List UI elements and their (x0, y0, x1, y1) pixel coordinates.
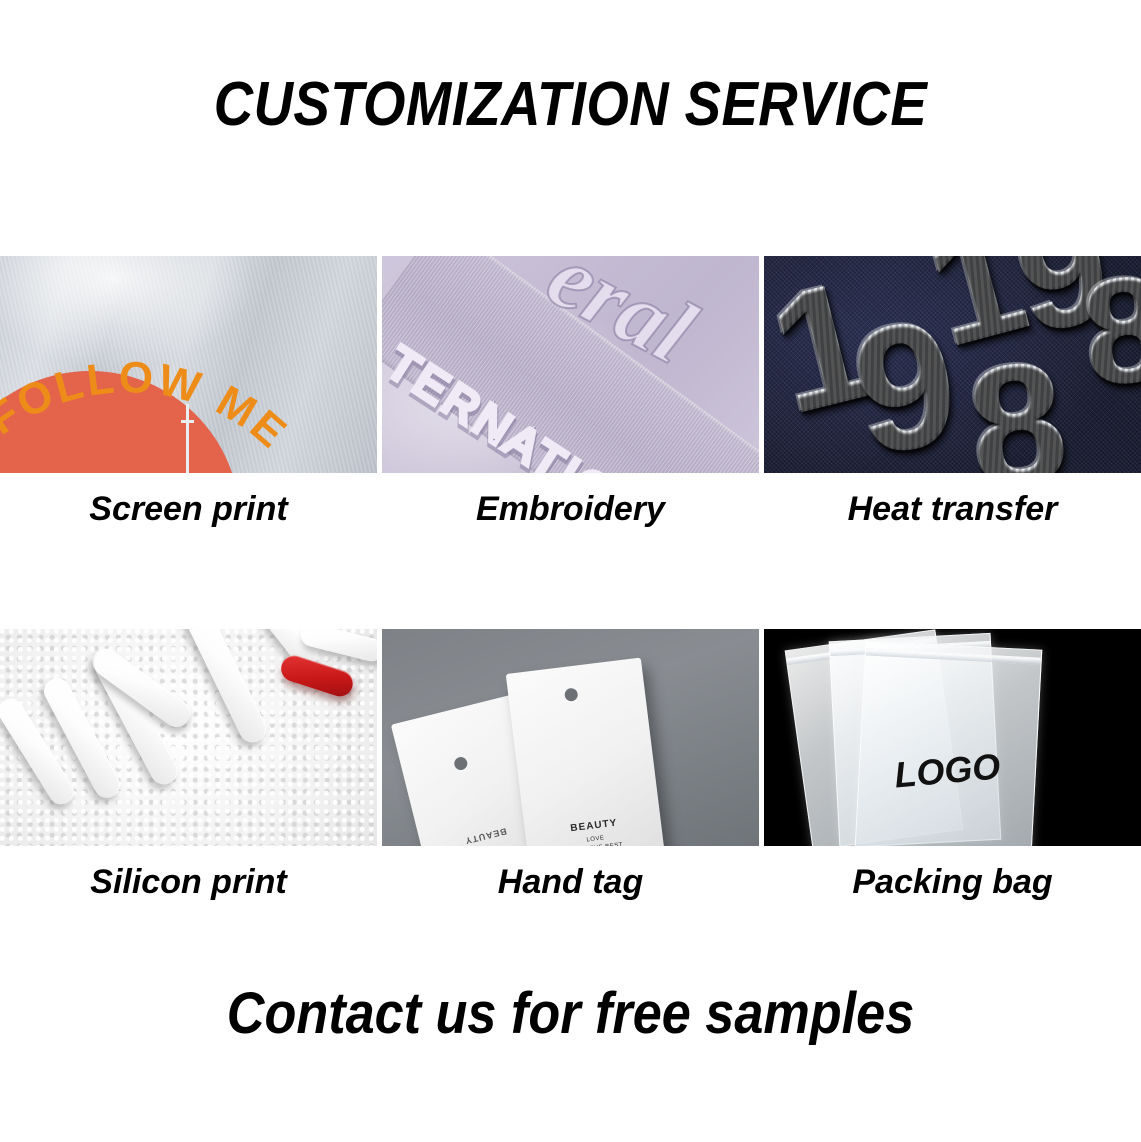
heat-transfer-photo[interactable]: 1 9 8 1 9 8 (764, 256, 1141, 473)
embroidery-stitch-text: TERNATIONA TERNATIONA eral (382, 256, 759, 473)
gallery-item-heat-transfer[interactable]: 1 9 8 1 9 8 Heat transfer (764, 256, 1141, 526)
packing-bag-logo-text: LOGO (858, 742, 1036, 799)
row-spacer (0, 526, 1141, 629)
screen-print-artwork-text: N'T FOLLOW ME (0, 353, 297, 473)
packing-bag-front: LOGO (855, 641, 1043, 846)
hang-tag-back-text: BEAUTY (441, 820, 531, 846)
heat-transfer-numeral-8: 8 (961, 347, 1074, 473)
service-gallery: N'T FOLLOW ME Screen print TERNATIONA TE… (0, 256, 1141, 899)
embroidery-artwork-text-secondary: eral (532, 256, 711, 383)
gallery-item-silicon-print[interactable]: Silicon print (0, 629, 377, 899)
silicon-print-photo[interactable] (0, 629, 377, 846)
gallery-row-1: N'T FOLLOW ME Screen print TERNATIONA TE… (0, 256, 1141, 526)
tag-hole-back (453, 756, 469, 772)
embroidery-photo[interactable]: TERNATIONA TERNATIONA eral (382, 256, 759, 473)
contact-cta-text: Contact us for free samples (57, 985, 1084, 1043)
screen-print-photo[interactable]: N'T FOLLOW ME (0, 256, 377, 473)
svg-text:N'T FOLLOW ME: N'T FOLLOW ME (0, 353, 297, 473)
gallery-item-screen-print[interactable]: N'T FOLLOW ME Screen print (0, 256, 377, 526)
gallery-item-hand-tag[interactable]: BEAUTY BEAUTY LOVE WISH THE BEST Hand ta… (382, 629, 759, 899)
page-title: CUSTOMIZATION SERVICE (68, 74, 1072, 136)
caption-packing-bag: Packing bag (764, 846, 1141, 899)
packing-bag-photo[interactable]: LOGO (764, 629, 1141, 846)
terry-texture-overlay (0, 629, 377, 846)
caption-silicon-print: Silicon print (0, 846, 377, 899)
gallery-item-packing-bag[interactable]: LOGO Packing bag (764, 629, 1141, 899)
caption-embroidery: Embroidery (382, 473, 759, 526)
gallery-item-embroidery[interactable]: TERNATIONA TERNATIONA eral Embroidery (382, 256, 759, 526)
zip-seal-front (866, 649, 1041, 665)
gallery-row-2: Silicon print BEAUTY BEAUTY LOVE WISH TH… (0, 629, 1141, 899)
hand-tag-photo[interactable]: BEAUTY BEAUTY LOVE WISH THE BEST (382, 629, 759, 846)
tag-hole-front (564, 687, 578, 701)
hang-tag-front: BEAUTY LOVE WISH THE BEST (506, 657, 667, 846)
curved-print-text: N'T FOLLOW ME (0, 298, 350, 473)
caption-hand-tag: Hand tag (382, 846, 759, 899)
caption-heat-transfer: Heat transfer (764, 473, 1141, 526)
caption-screen-print: Screen print (0, 473, 377, 526)
